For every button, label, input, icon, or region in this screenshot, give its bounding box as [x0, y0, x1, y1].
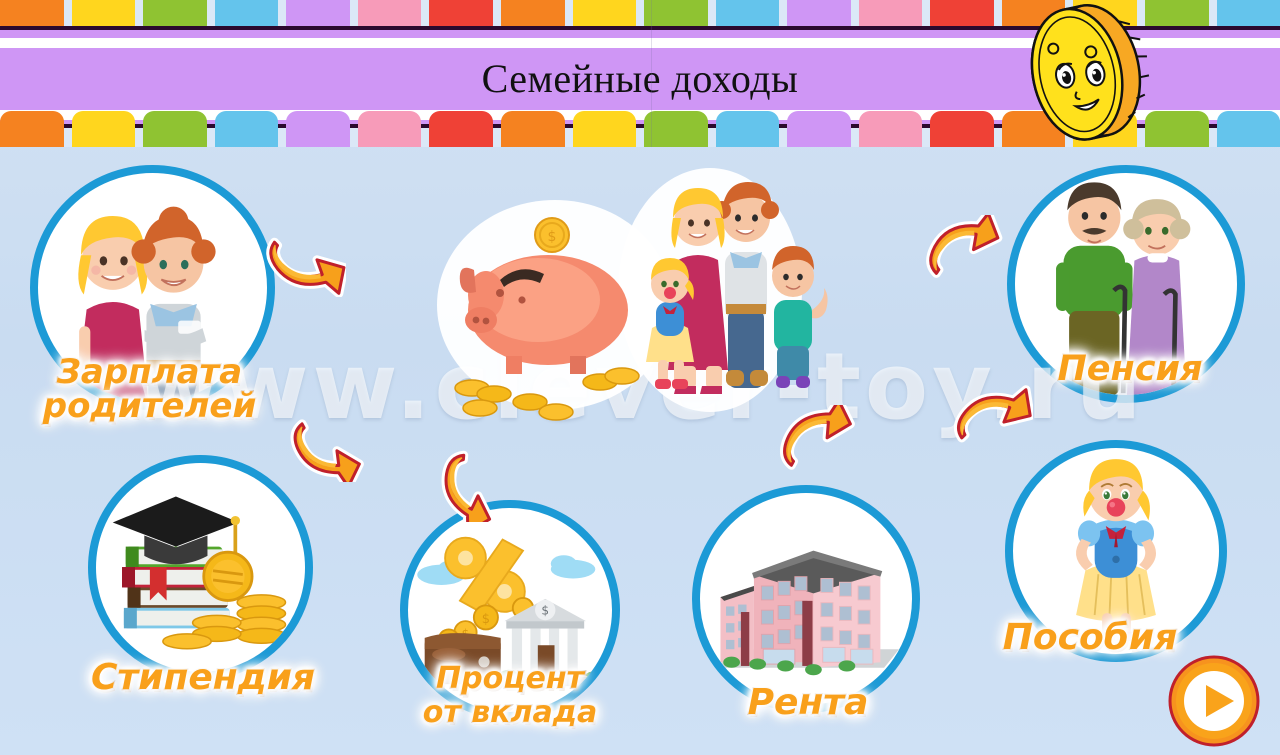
arrow-to-rent-icon	[770, 405, 858, 490]
arrow-to-salary-icon	[256, 212, 346, 297]
arrow-to-benefits-icon	[945, 385, 1033, 471]
node-label-pension: Пенсия	[1030, 352, 1230, 387]
arrow-to-pension-icon	[918, 215, 1004, 301]
family-of-four-icon	[646, 182, 828, 394]
play-button[interactable]	[1168, 655, 1260, 747]
slide-canvas: Семейные доходы	[0, 0, 1280, 755]
header-seam	[651, 0, 652, 147]
node-label-scholarship: Стипендия	[58, 660, 348, 696]
svg-text:$: $	[548, 229, 557, 245]
svg-text:$: $	[482, 612, 490, 627]
arrow-to-scholarship-icon	[280, 400, 366, 482]
svg-text:$: $	[541, 604, 549, 618]
center-illustration: $	[430, 160, 830, 440]
node-label-deposit-interest: Процент от вклада	[398, 662, 622, 729]
graduation-cap-books-coins-icon	[88, 455, 313, 680]
arrow-to-deposit-icon	[430, 440, 514, 522]
node-label-rent: Рента	[718, 685, 898, 721]
node-label-salary: Зарплата родителей	[12, 355, 287, 423]
smiling-gold-coin-icon	[1003, 0, 1163, 151]
node-label-benefits: Пособия	[960, 620, 1220, 656]
apartment-building-icon	[692, 485, 920, 713]
